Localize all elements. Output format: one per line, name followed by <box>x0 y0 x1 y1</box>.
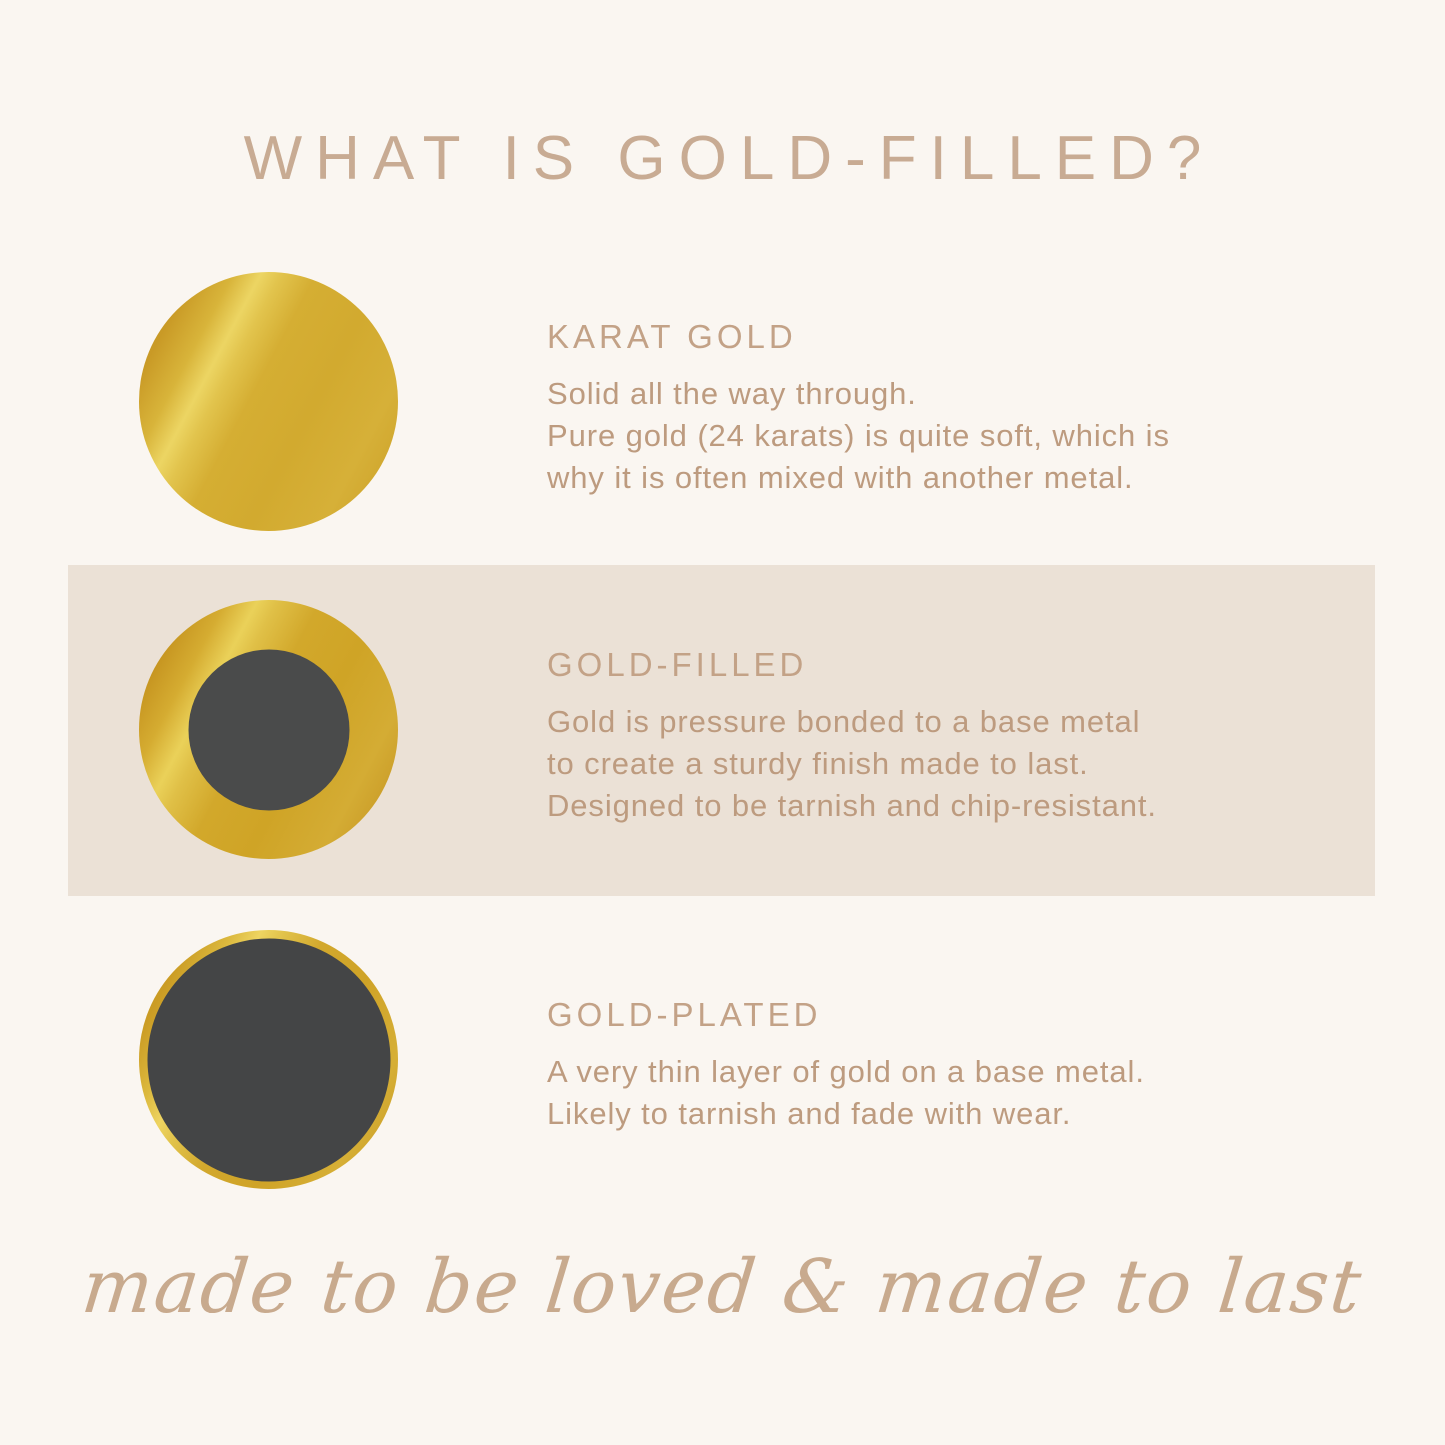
body-line: why it is often mixed with another metal… <box>547 457 1367 499</box>
karat-gold-swatch <box>139 272 398 531</box>
gold-plated-thin-rim-circle-icon <box>139 930 398 1189</box>
gold-filled-text: GOLD-FILLED Gold is pressure bonded to a… <box>547 648 1367 827</box>
body-line: A very thin layer of gold on a base meta… <box>547 1051 1367 1093</box>
body-line: Solid all the way through. <box>547 373 1367 415</box>
comparison-row-karat-gold: KARAT GOLD Solid all the way through. Pu… <box>0 272 1445 534</box>
gold-filled-ring-circle-icon <box>139 600 398 859</box>
tagline-script: made to be loved & made to last <box>0 1250 1445 1324</box>
item-body-karat-gold: Solid all the way through. Pure gold (24… <box>547 373 1367 499</box>
gold-plated-text: GOLD-PLATED A very thin layer of gold on… <box>547 998 1367 1135</box>
item-body-gold-plated: A very thin layer of gold on a base meta… <box>547 1051 1367 1135</box>
gold-comparison-infographic: WHAT IS GOLD-FILLED? KARAT GOLD Solid al… <box>0 0 1445 1445</box>
body-line: Pure gold (24 karats) is quite soft, whi… <box>547 415 1367 457</box>
body-line: Designed to be tarnish and chip-resistan… <box>547 785 1367 827</box>
gold-filled-swatch <box>139 600 398 859</box>
page-title: WHAT IS GOLD-FILLED? <box>0 128 1445 190</box>
gold-plated-swatch <box>139 930 398 1189</box>
body-line: Gold is pressure bonded to a base metal <box>547 701 1367 743</box>
comparison-row-gold-plated: GOLD-PLATED A very thin layer of gold on… <box>0 930 1445 1192</box>
karat-gold-text: KARAT GOLD Solid all the way through. Pu… <box>547 320 1367 499</box>
item-heading-gold-plated: GOLD-PLATED <box>547 998 1367 1031</box>
comparison-row-gold-filled: GOLD-FILLED Gold is pressure bonded to a… <box>0 600 1445 862</box>
item-body-gold-filled: Gold is pressure bonded to a base metal … <box>547 701 1367 827</box>
solid-gold-circle-icon <box>139 272 398 531</box>
body-line: Likely to tarnish and fade with wear. <box>547 1093 1367 1135</box>
body-line: to create a sturdy finish made to last. <box>547 743 1367 785</box>
item-heading-gold-filled: GOLD-FILLED <box>547 648 1367 681</box>
item-heading-karat-gold: KARAT GOLD <box>547 320 1367 353</box>
